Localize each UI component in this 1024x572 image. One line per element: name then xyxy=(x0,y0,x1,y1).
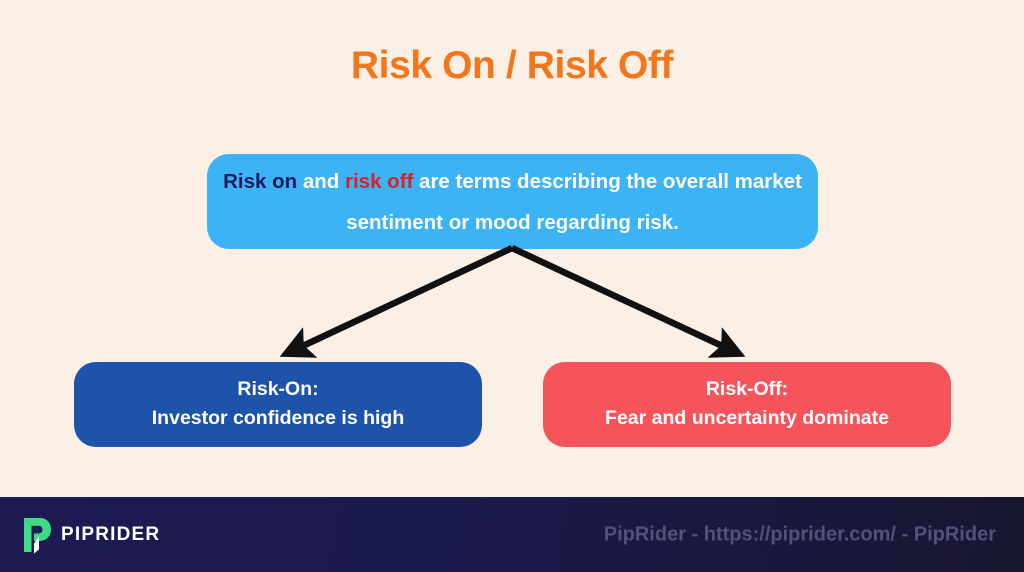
arrow-to-risk-on xyxy=(292,248,512,351)
brand-name: PIPRIDER xyxy=(61,524,160,546)
definition-box: Risk on and risk off are terms describin… xyxy=(207,154,818,249)
arrow-to-risk-off xyxy=(512,248,733,351)
brand-lockup: PIPRIDER xyxy=(18,515,160,555)
definition-connector: and xyxy=(297,170,345,193)
footer-bar: PIPRIDER PipRider - https://piprider.com… xyxy=(0,497,1024,572)
risk-off-description: Fear and uncertainty dominate xyxy=(605,403,889,433)
definition-text: Risk on and risk off are terms describin… xyxy=(207,161,818,243)
footer-credit: PipRider - https://piprider.com/ - PipRi… xyxy=(604,523,996,546)
risk-off-card: Risk-Off: Fear and uncertainty dominate xyxy=(543,362,951,447)
risk-on-heading: Risk-On: xyxy=(237,376,318,403)
keyword-risk-off: risk off xyxy=(345,170,413,193)
risk-on-description: Investor confidence is high xyxy=(152,403,404,433)
piprider-logo-icon xyxy=(18,515,52,555)
risk-off-heading: Risk-Off: xyxy=(706,376,788,403)
page-title: Risk On / Risk Off xyxy=(0,44,1024,88)
definition-rest: are terms describing the overall market … xyxy=(346,170,802,234)
keyword-risk-on: Risk on xyxy=(223,170,297,193)
risk-on-card: Risk-On: Investor confidence is high xyxy=(74,362,482,447)
diagram-canvas: Risk On / Risk Off Risk on and risk off … xyxy=(0,0,1024,572)
